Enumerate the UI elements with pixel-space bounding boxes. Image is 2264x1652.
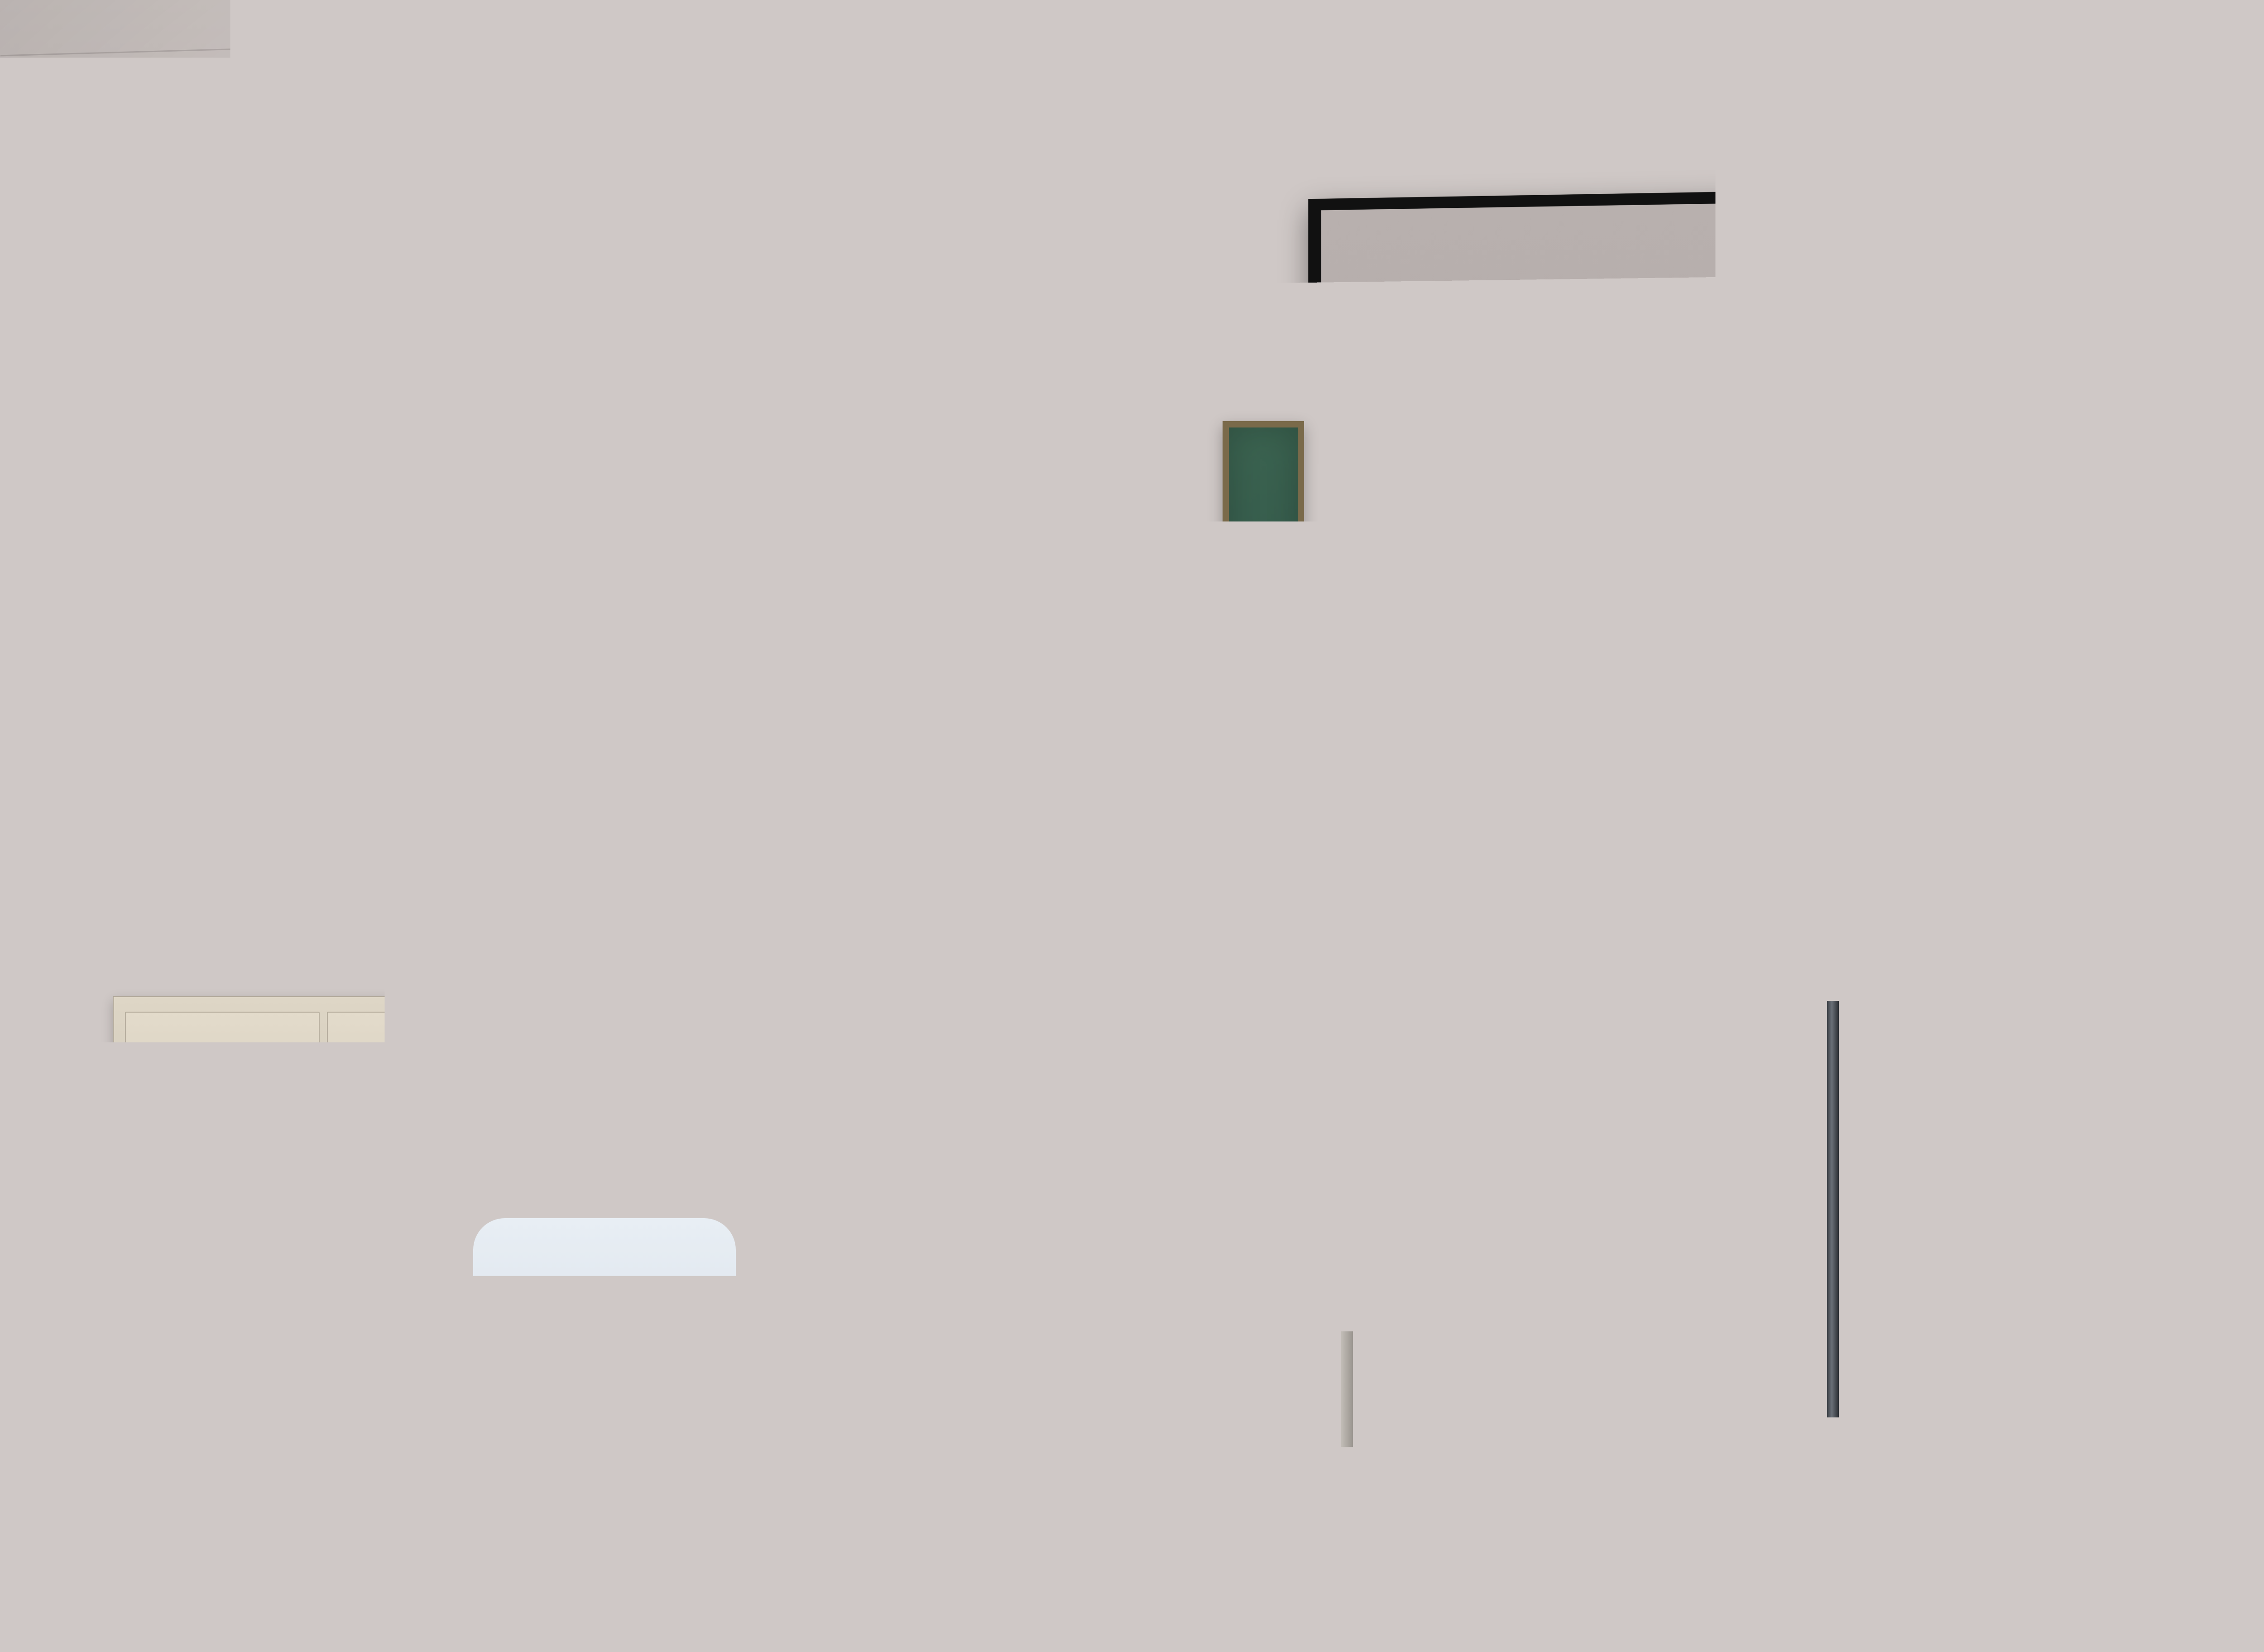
light-switch[interactable] bbox=[1154, 277, 1177, 319]
blackboard-eraser[interactable] bbox=[165, 966, 215, 985]
handheld-phone-screen bbox=[1722, 1070, 1806, 1114]
speaker-eye bbox=[851, 741, 872, 747]
lectern-cable-connector bbox=[820, 974, 874, 985]
projector-led-icon bbox=[2023, 31, 2033, 36]
phone-preview-slide bbox=[1849, 982, 1902, 1019]
hexagon-decor-icon bbox=[1560, 310, 1632, 384]
speaker-ear bbox=[881, 725, 896, 751]
audience-body bbox=[473, 1218, 736, 1544]
handheld-smartphone[interactable] bbox=[1716, 1066, 1811, 1117]
wall-smudge bbox=[996, 1109, 1232, 1177]
chalk-box[interactable] bbox=[2239, 1009, 2264, 1035]
ceiling-grid-line bbox=[797, 0, 798, 75]
audience-head bbox=[1757, 1205, 1893, 1368]
chalk-smudge bbox=[1353, 852, 1751, 894]
light-switch[interactable] bbox=[1013, 272, 1037, 313]
audience-body bbox=[2119, 1576, 2264, 1652]
projector-brand-badge bbox=[1959, 52, 2014, 63]
chalk-line-1: 放射医学专业 bbox=[175, 477, 943, 617]
nameplate-text: 寇长贵 bbox=[1430, 1273, 1521, 1312]
hand-right bbox=[1893, 1055, 1970, 1114]
housing-sticker bbox=[1296, 150, 1373, 168]
nameplate-card: 寇长贵 bbox=[1419, 1267, 1533, 1319]
recording-indicator-icon bbox=[1877, 967, 1899, 974]
lectern-chalk[interactable] bbox=[903, 975, 935, 983]
audience-body bbox=[1508, 1553, 1820, 1652]
projector-lens-icon bbox=[1943, 66, 2007, 82]
wall-power-socket[interactable] bbox=[2201, 1177, 2242, 1223]
smartwatch-face bbox=[1644, 1132, 1693, 1181]
speaker-hair bbox=[769, 655, 898, 735]
tripod-head[interactable] bbox=[1811, 1042, 1855, 1096]
phone-preview-desk bbox=[1774, 1019, 1907, 1033]
desk-leg bbox=[811, 1354, 823, 1652]
logo-letter: S bbox=[1410, 334, 1433, 377]
audience-glasses-icon bbox=[652, 1109, 677, 1123]
chalk-box[interactable] bbox=[2195, 1011, 2237, 1037]
speaker-mouth bbox=[814, 772, 847, 784]
lectern-desktop[interactable] bbox=[706, 967, 1014, 1008]
logo-ring: S bbox=[1389, 322, 1454, 389]
tripod-phone-screen[interactable] bbox=[1774, 964, 1907, 1033]
audience-body bbox=[2219, 1282, 2264, 1481]
wall-power-socket[interactable] bbox=[1340, 1177, 1382, 1223]
molecule-line-decor-icon bbox=[1723, 375, 1778, 408]
audience-head bbox=[523, 1055, 677, 1236]
blackboard-right bbox=[1255, 427, 2264, 1053]
audience-glasses-icon bbox=[179, 1205, 233, 1225]
wall-power-socket[interactable] bbox=[1176, 1177, 1218, 1223]
chalk-smudge bbox=[832, 449, 1051, 478]
speaker-ear bbox=[770, 725, 785, 751]
hexagon-decor-icon bbox=[1760, 304, 1800, 346]
phone-preview-speaker bbox=[1799, 993, 1814, 1018]
blackboard-left: 放射医学专业 就业指导交流会 bbox=[81, 399, 1238, 1014]
molecule-line-decor-icon bbox=[1631, 360, 1698, 397]
school-of-public-health-logo: S bbox=[1381, 311, 1463, 400]
classroom-scene: S 放射医学专业 就 bbox=[0, 0, 2264, 1652]
speaker-eye bbox=[793, 741, 814, 747]
